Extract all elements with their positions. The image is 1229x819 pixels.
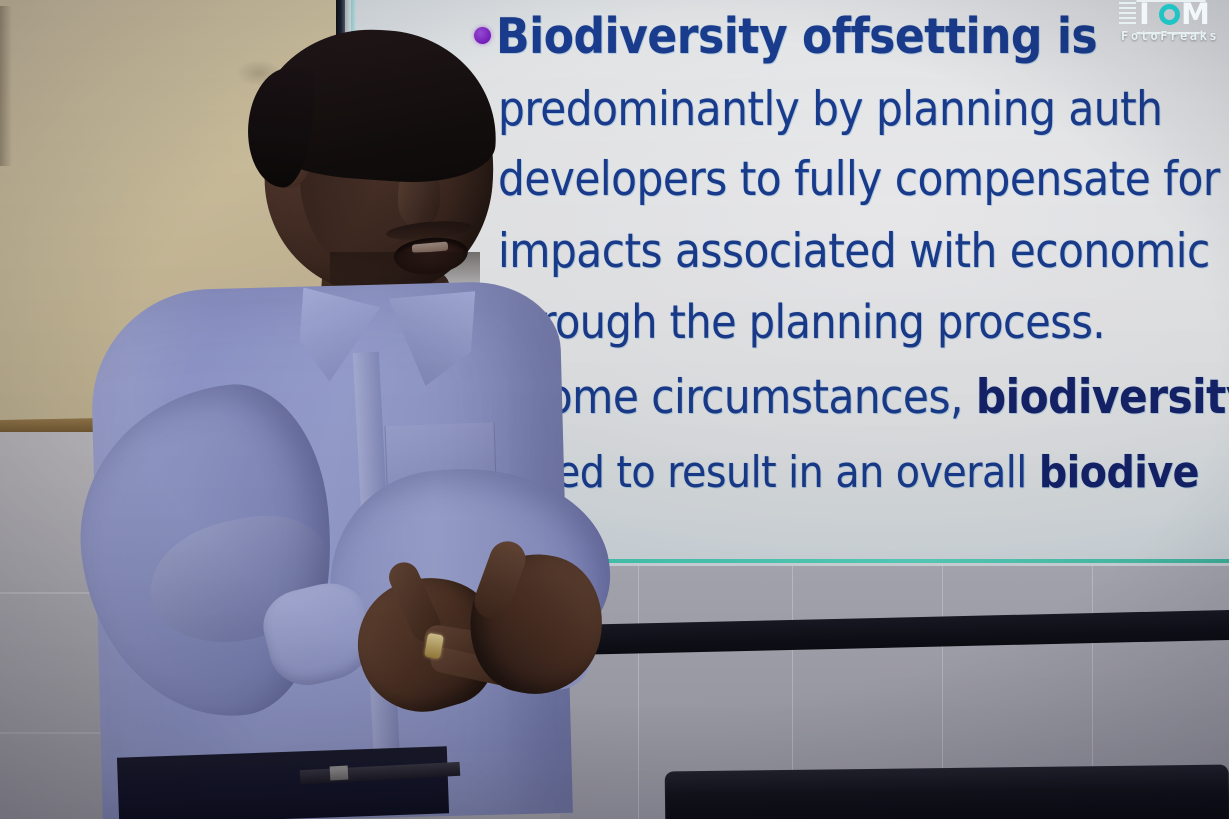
film-strip-icon [1119, 2, 1136, 24]
lens-ring-icon [1159, 4, 1180, 25]
belt-buckle [330, 766, 349, 781]
slide-line-7-emphasis: biodive [1039, 447, 1199, 498]
watermark-logo: I M [1115, 0, 1223, 30]
watermark: I M FotoFreaks [1115, 0, 1227, 46]
presenter-figure [0, 0, 640, 819]
watermark-brand: FotoFreaks [1121, 29, 1219, 43]
laptop-lid [665, 765, 1229, 819]
slide-line-6-emphasis: biodiversity [976, 370, 1229, 425]
watermark-letter-i: I [1139, 0, 1150, 28]
trousers [117, 746, 449, 819]
hair [253, 22, 503, 188]
photograph-canvas: Biodiversity offsetting is predominantly… [0, 0, 1229, 819]
watermark-letter-m: M [1181, 0, 1210, 28]
